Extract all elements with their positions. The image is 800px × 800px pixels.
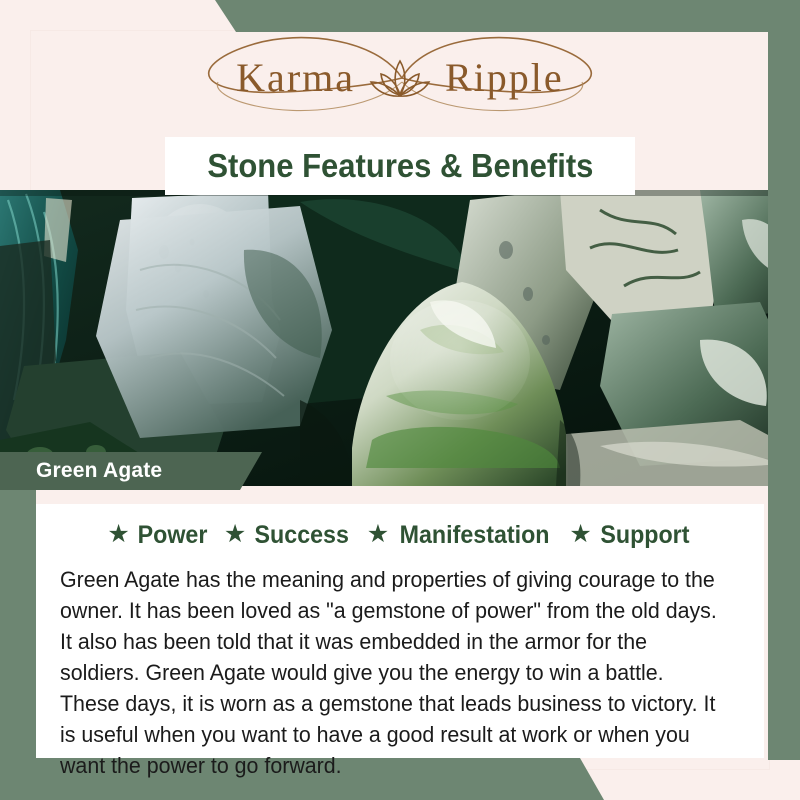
benefit-label: Power bbox=[137, 521, 207, 550]
frame-top-band bbox=[0, 0, 800, 32]
brand-word-left: Karma bbox=[183, 58, 363, 98]
benefit-item: ★ Support bbox=[569, 521, 692, 550]
stone-description: Green Agate has the meaning and properti… bbox=[60, 564, 725, 781]
star-icon: ★ bbox=[367, 522, 389, 547]
benefit-label: Support bbox=[600, 521, 689, 550]
star-icon: ★ bbox=[569, 522, 591, 547]
stone-name-banner: Green Agate bbox=[0, 452, 262, 490]
page-title-plate: Stone Features & Benefits bbox=[165, 137, 635, 195]
benefit-label: Success bbox=[255, 521, 349, 550]
benefit-label: Manifestation bbox=[400, 521, 550, 550]
brand-word-right: Ripple bbox=[437, 58, 617, 98]
benefit-item: ★ Success bbox=[224, 521, 353, 550]
content-panel: ★ Power ★ Success ★ Manifestation ★ Supp… bbox=[36, 504, 764, 758]
benefit-item: ★ Power bbox=[107, 521, 209, 550]
poster-root: Karma Ripple Stone Featur bbox=[0, 0, 800, 800]
star-icon: ★ bbox=[224, 522, 246, 547]
stone-name-label: Green Agate bbox=[0, 459, 162, 483]
page-title: Stone Features & Benefits bbox=[207, 147, 593, 185]
frame-left-band bbox=[0, 455, 36, 800]
benefit-item: ★ Manifestation bbox=[367, 521, 556, 550]
star-icon: ★ bbox=[107, 522, 129, 547]
benefits-list: ★ Power ★ Success ★ Manifestation ★ Supp… bbox=[36, 514, 764, 556]
green-agate-stones-photo bbox=[0, 190, 800, 486]
brand-logo: Karma Ripple bbox=[0, 30, 800, 125]
lotus-icon bbox=[363, 55, 437, 101]
